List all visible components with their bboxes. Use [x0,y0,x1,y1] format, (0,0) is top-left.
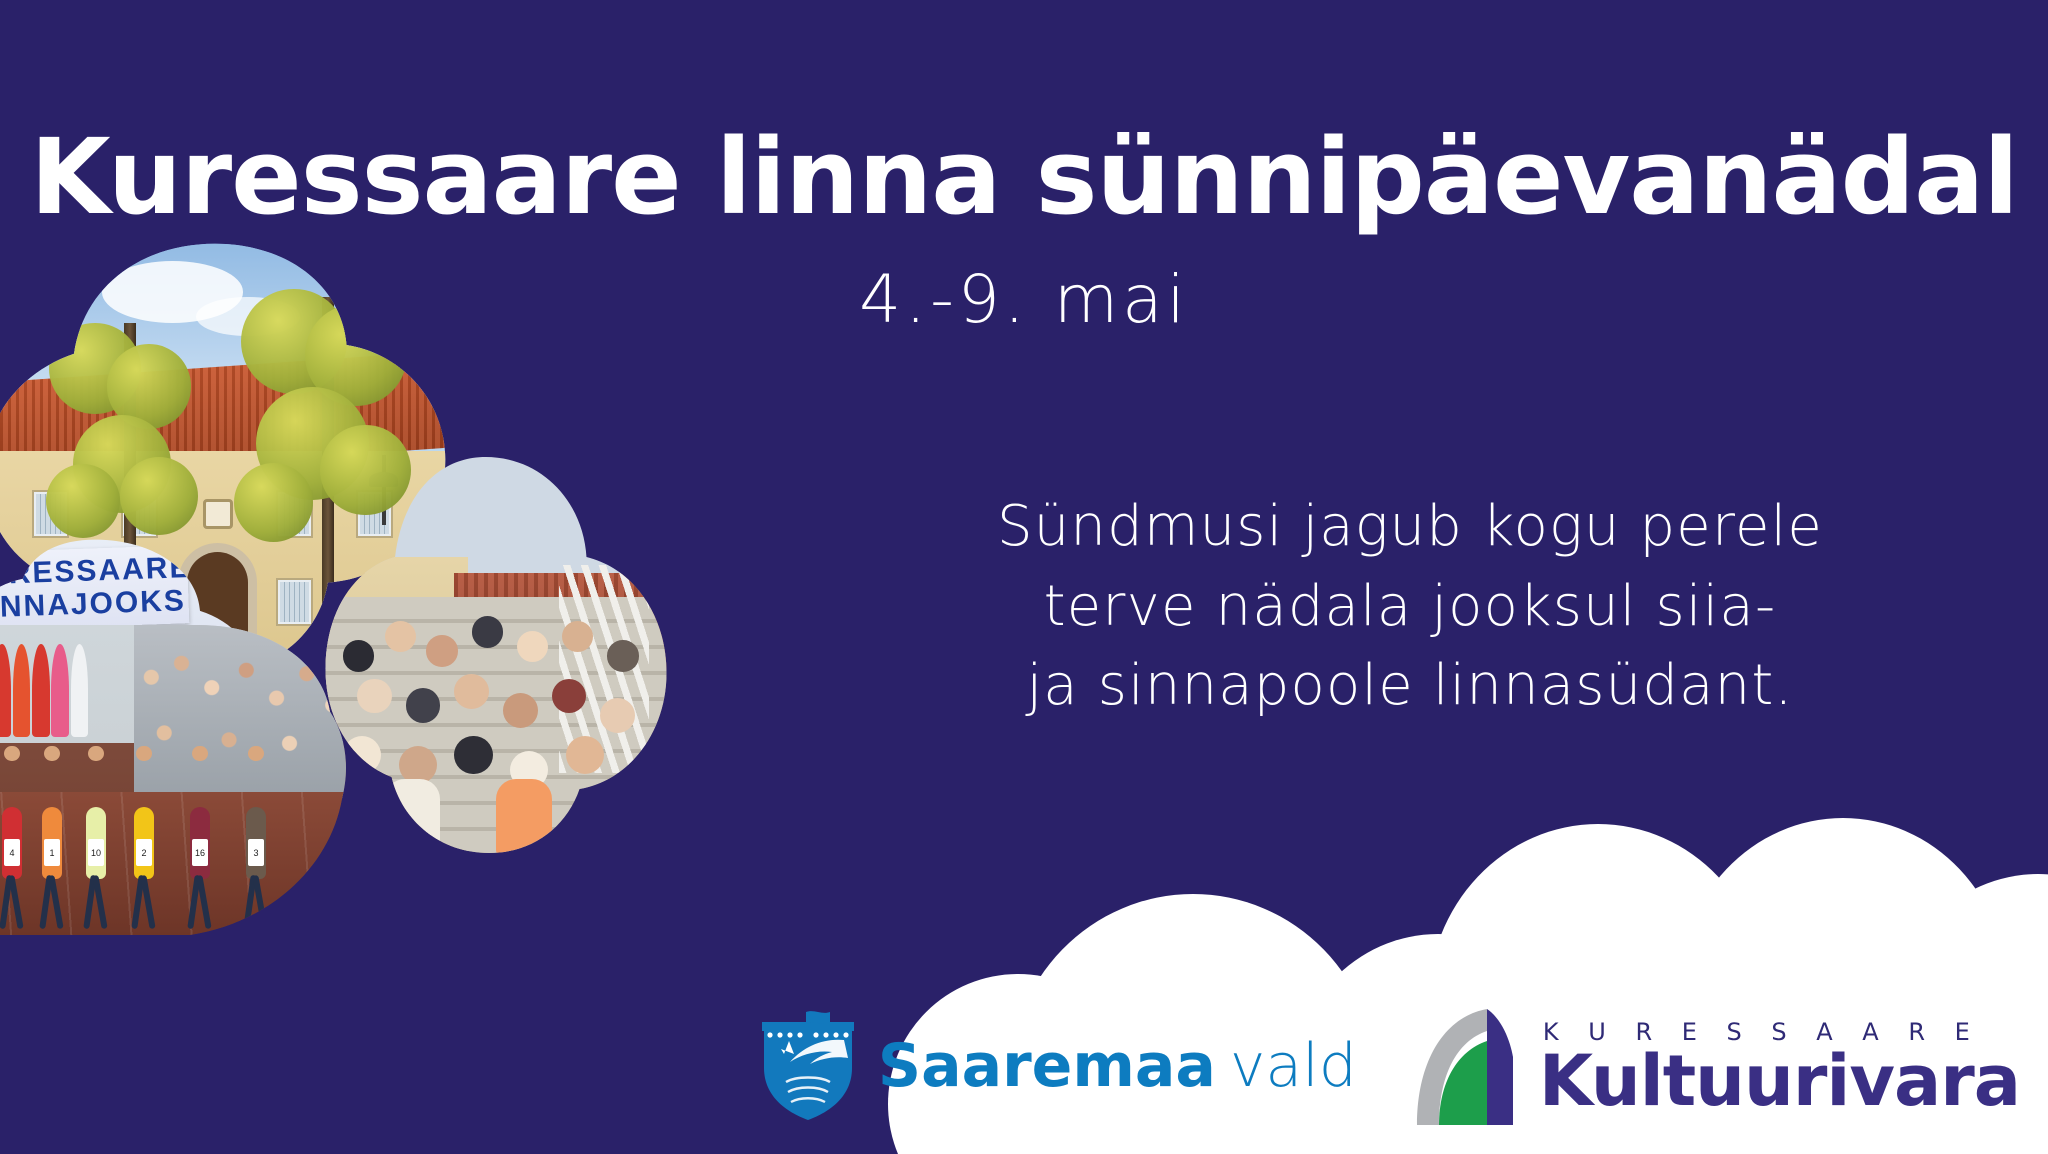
page-title: Kuressaare linna sünnipäevanädal [0,0,2048,229]
description-line-1: Sündmusi jagub kogu perele [900,487,1920,567]
runners-image: 200 4 1 10 [0,625,350,935]
runner: 16 [182,746,218,926]
kultuurivara-arch-icon [1413,1007,1525,1125]
runner: 2 [126,746,162,926]
logo-kuressaare-kultuurivara[interactable]: K U R E S S A A R E Kultuurivara [1413,1007,2020,1125]
saaremaa-name: Saaremaa [878,1031,1216,1101]
banner-line-2: LINNAJOOKS [0,584,186,625]
runner: 3 [238,746,274,926]
description-line-2: terve nädala jooksul siia- [900,567,1920,647]
saaremaa-coat-of-arms-icon [760,1010,856,1122]
partner-logos: Saaremaavald K U R E S S A A R E Kultuur… [760,1006,2020,1126]
kultuurivara-main-line: Kultuurivara [1539,1048,2020,1115]
runner-bib: 3 [248,839,264,866]
runner-bib: 1 [44,839,60,866]
runner: 10 [78,746,114,926]
saaremaa-wordmark: Saaremaavald [878,1036,1357,1096]
saaremaa-suffix: vald [1230,1031,1357,1101]
photo-runners: 200 4 1 10 [0,625,350,935]
runner-bib: 4 [4,839,20,866]
runner: 1 [34,746,70,926]
runner-bib: 16 [192,839,208,866]
photo-collage: KURESSAARE LINNAJOOKS [0,235,680,925]
runner-bib: 10 [88,839,104,866]
sponsor-flags [0,644,150,737]
runner: 4 [0,746,30,926]
event-description: Sündmusi jagub kogu perele terve nädala … [900,487,1920,726]
logo-saaremaa-vald[interactable]: Saaremaavald [760,1010,1357,1122]
kultuurivara-wordmark: K U R E S S A A R E Kultuurivara [1539,1018,2020,1115]
poster-canvas: Kuressaare linna sünnipäevanädal 4.-9. m… [0,0,2048,1154]
runner-bib: 2 [136,839,152,866]
spectator-heads [322,597,670,837]
description-line-3: ja sinnapoole linnasüdant. [900,646,1920,726]
